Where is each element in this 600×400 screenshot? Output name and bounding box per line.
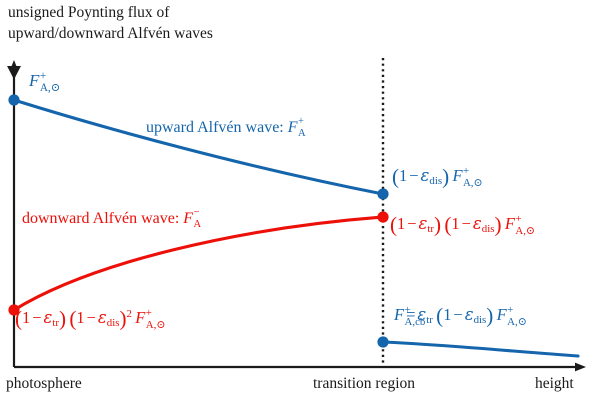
label-downward-start-flux: (1−εtr) (1−εdis)2 F+A,⊙ xyxy=(15,310,145,327)
label-downward-end-flux: (1−εtr) (1−εdis) F+A,⊙ xyxy=(390,216,515,233)
minus-sign: − xyxy=(451,305,464,324)
paren-open: ( xyxy=(390,213,397,237)
epsilon-dis-subscript: dis xyxy=(107,317,120,329)
minus-sign-2: − xyxy=(85,308,98,327)
upward-wave-curve xyxy=(14,100,383,194)
symbol-F: F xyxy=(183,210,193,227)
marker-upward-end xyxy=(377,188,388,199)
paren-close: ) xyxy=(434,213,441,237)
paren-close: ) xyxy=(442,165,449,189)
symbol-F: F xyxy=(288,119,298,136)
symbol-F: F xyxy=(505,214,515,233)
minus-sign: − xyxy=(30,308,43,327)
marker-downward-end xyxy=(377,211,388,222)
symbol-F-rhs: F xyxy=(497,305,507,324)
symbol-epsilon-dis: ε xyxy=(465,305,474,324)
symbol-F: F xyxy=(135,308,145,327)
epsilon-tr-subscript: tr xyxy=(52,317,59,329)
marker-upward-start xyxy=(8,94,19,105)
downward-wave-text: downward Alfvén wave: xyxy=(22,210,179,227)
numeral-one-2: 1 xyxy=(451,214,459,233)
paren2-close: ) xyxy=(494,213,501,237)
label-upward-start-flux: F+A,⊙ xyxy=(29,72,39,89)
symbol-F-lhs: F xyxy=(394,305,404,324)
epsilon-subscript: dis xyxy=(429,175,442,187)
marker-coronal-start xyxy=(377,336,388,347)
epsilon-tr-subscript: tr xyxy=(426,314,433,326)
symbol-F: F xyxy=(29,71,39,90)
x-axis-label-height: height xyxy=(535,376,574,392)
symbol-epsilon-2: ε xyxy=(473,214,482,233)
paren-open: ( xyxy=(392,165,399,189)
upward-wave-text: upward Alfvén wave: xyxy=(146,119,284,136)
coronal-flux-curve xyxy=(383,342,578,356)
figure-canvas: unsigned Poynting flux of upward/downwar… xyxy=(0,0,600,400)
numeral-one-2: 1 xyxy=(76,308,84,327)
label-coronal-flux: F+A,cb=εtr (1−εdis) F+A,⊙ xyxy=(394,307,507,324)
minus-sign: − xyxy=(405,214,418,233)
symbol-epsilon-2: ε xyxy=(98,308,107,327)
power-two: 2 xyxy=(127,308,132,320)
paren2-close: ) xyxy=(119,307,126,331)
x-tick-label-photosphere: photosphere xyxy=(6,376,82,392)
epsilon-dis-subscript: dis xyxy=(482,223,495,235)
minus-sign: − xyxy=(407,166,420,185)
minus-sign-2: − xyxy=(460,214,473,233)
label-downward-wave: downward Alfvén wave: F−A xyxy=(22,211,193,227)
plot-graphics xyxy=(0,0,600,400)
epsilon-dis-subscript: dis xyxy=(474,314,487,326)
epsilon-tr-subscript: tr xyxy=(427,223,434,235)
x-axis-arrow xyxy=(575,363,586,372)
paren-close: ) xyxy=(486,304,493,328)
y-axis-arrow xyxy=(10,60,19,71)
downward-wave-curve xyxy=(14,217,383,310)
paren-close: ) xyxy=(59,307,66,331)
paren-open: ( xyxy=(15,307,22,331)
label-upward-end-flux: (1−εdis) F+A,⊙ xyxy=(392,168,463,185)
symbol-F: F xyxy=(452,166,462,185)
x-tick-label-transition-region: transition region xyxy=(313,376,415,392)
label-upward-wave: upward Alfvén wave: F+A xyxy=(146,120,298,136)
